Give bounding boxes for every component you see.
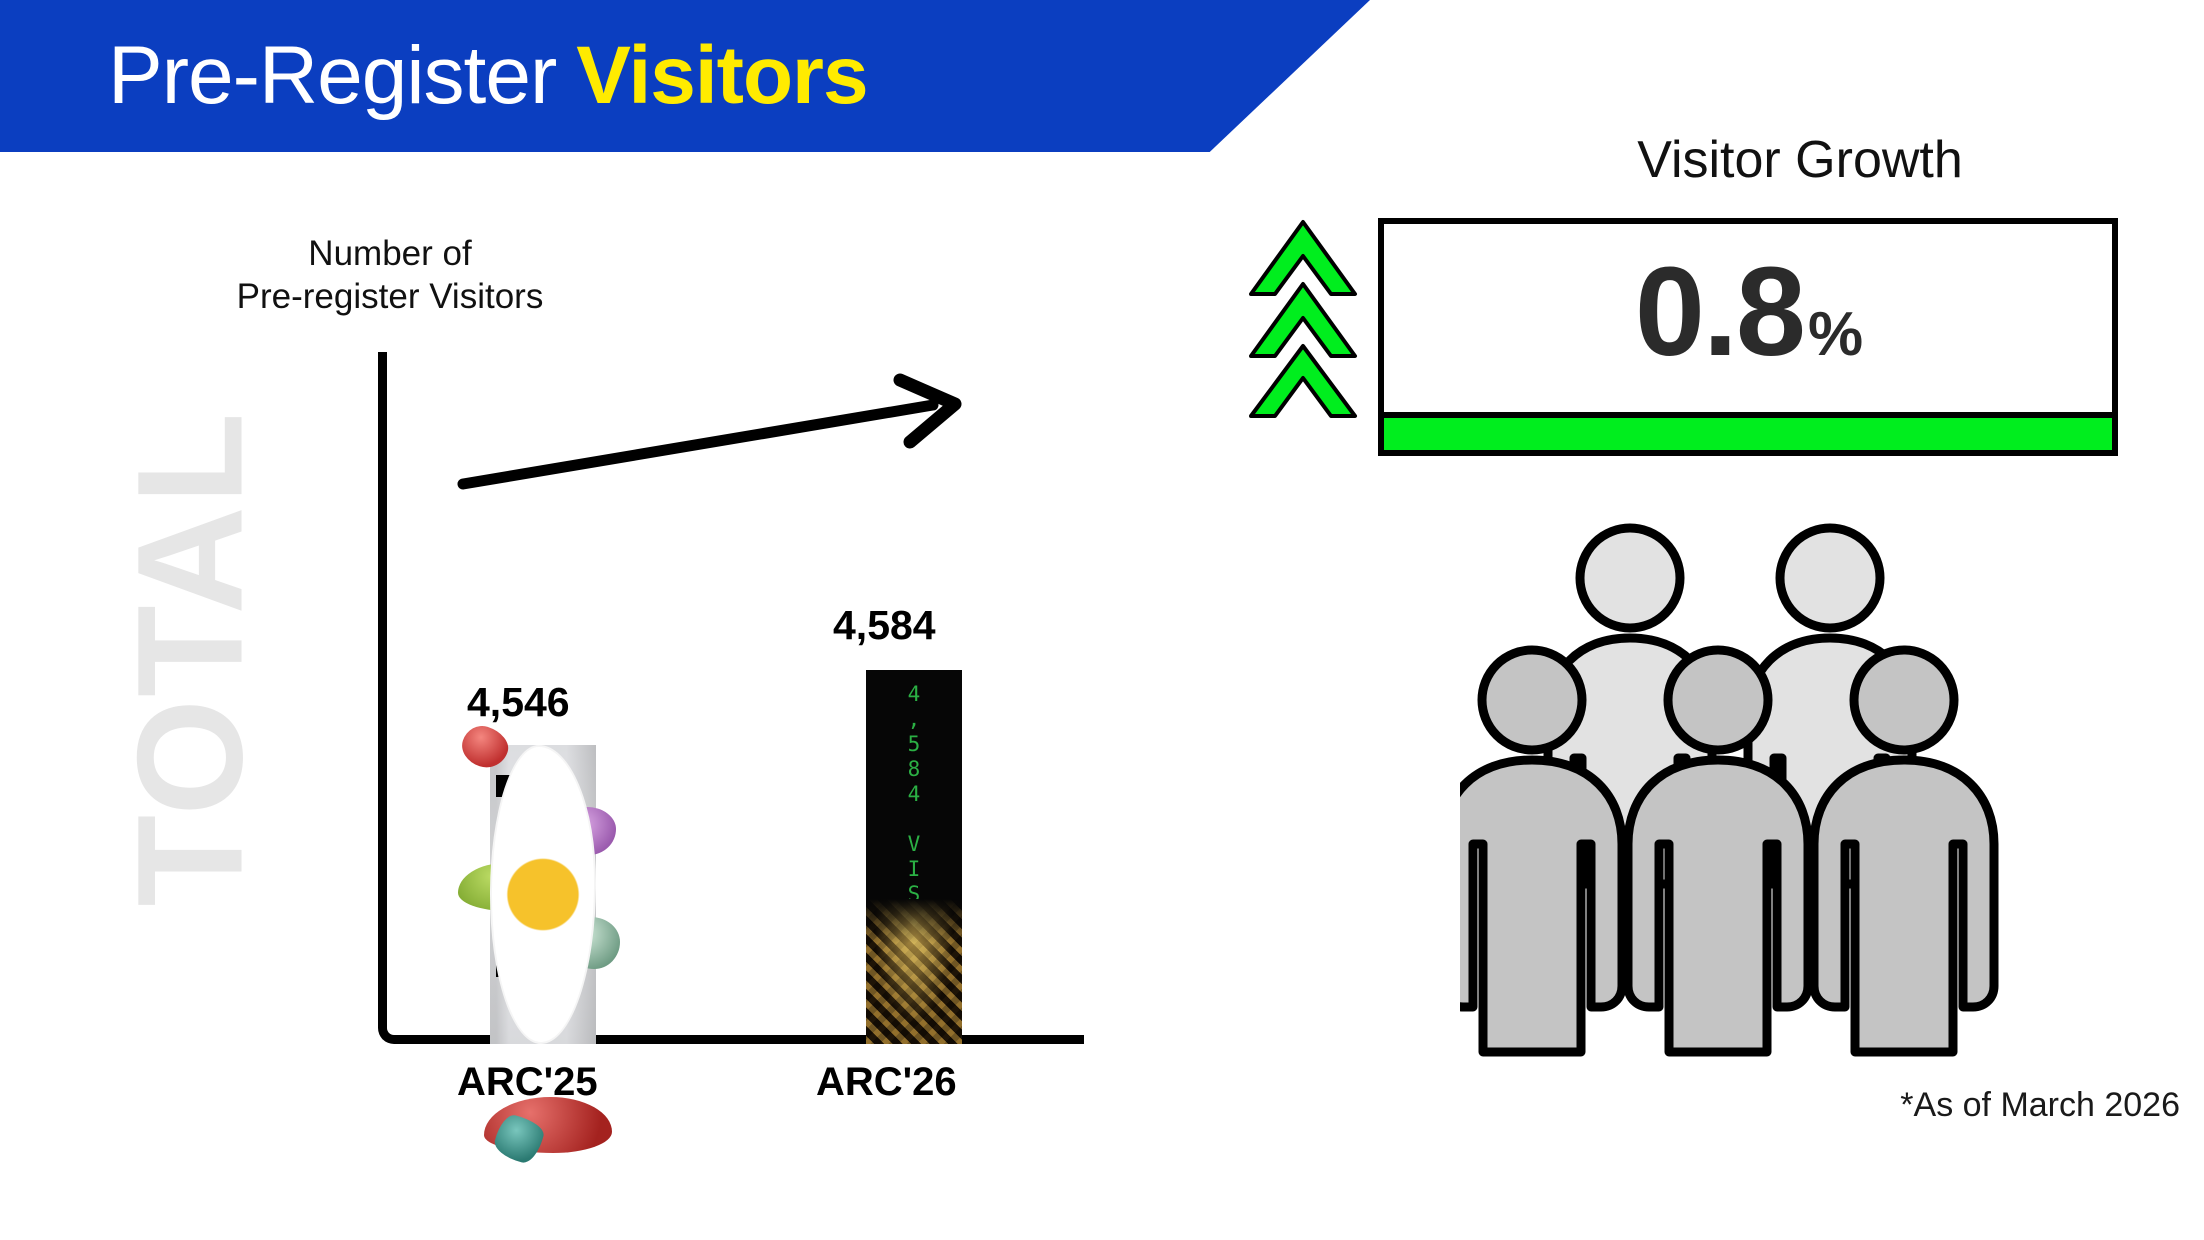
- footnote: *As of March 2026: [1740, 1086, 2180, 1125]
- growth-value-box: 0.8%: [1378, 218, 2118, 418]
- growth-value: 0.8%: [1635, 249, 1861, 375]
- people-group-icon: [1460, 510, 2020, 1070]
- page-title-accent: Visitors: [576, 30, 867, 121]
- x-axis-label-arc26: ARC'26: [816, 1060, 957, 1105]
- up-trend-arrow-icon: [455, 372, 995, 492]
- page-title: Pre-RegisterVisitors: [108, 35, 868, 117]
- y-axis-caption-line1: Number of: [180, 232, 600, 275]
- triple-up-chevron-icon: [1243, 218, 1363, 418]
- growth-title: Visitor Growth: [1480, 130, 2120, 190]
- x-axis-label-arc25: ARC'25: [457, 1060, 598, 1105]
- y-axis-caption: Number of Pre-register Visitors: [180, 232, 600, 319]
- total-watermark: TOTAL: [104, 399, 277, 919]
- growth-panel: Visitor Growth 0.8%: [1240, 140, 2204, 1240]
- bar-value-arc26: 4,584: [833, 602, 936, 649]
- slide-canvas: Pre-RegisterVisitors TOTAL Number of Pre…: [0, 0, 2204, 1240]
- growth-value-number: 0.8: [1635, 249, 1804, 375]
- growth-value-unit: %: [1808, 304, 1861, 366]
- bar-arc26: 4,584 VISITORS :: PRE-REGISTERED: [866, 670, 962, 1044]
- growth-green-bar: [1378, 418, 2118, 456]
- header-banner: Pre-RegisterVisitors: [0, 0, 1370, 152]
- bar-arc26-ornate-pattern: [866, 899, 962, 1044]
- y-axis-caption-line2: Pre-register Visitors: [180, 275, 600, 318]
- bar-arc25: [490, 745, 596, 1044]
- chart-panel: TOTAL Number of Pre-register Visitors: [0, 152, 1120, 1240]
- bar-value-arc25: 4,546: [467, 679, 570, 726]
- page-title-primary: Pre-Register: [108, 30, 556, 121]
